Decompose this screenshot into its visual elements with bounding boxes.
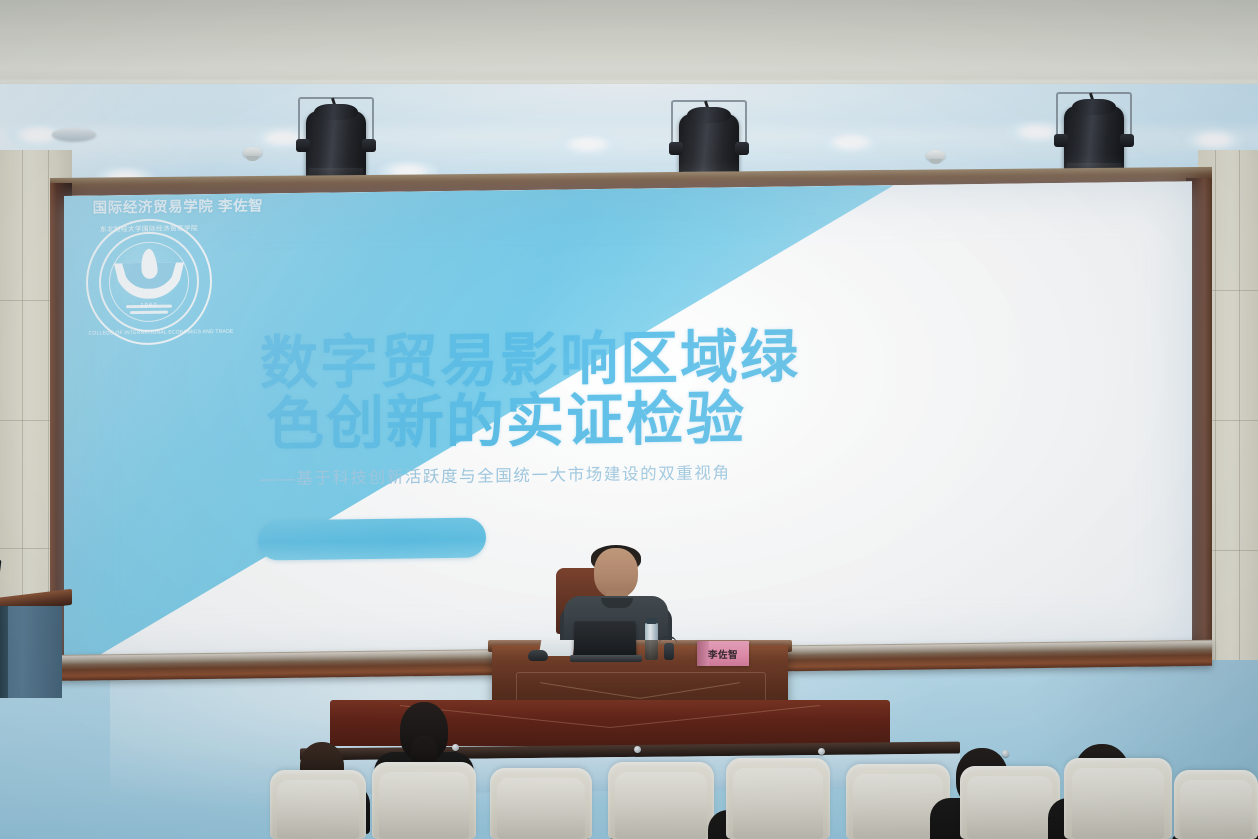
auditorium-seat [1174, 770, 1258, 839]
attendee-9 [0, 0, 1258, 839]
lecture-hall-photo: 东北财经大学国际经济贸易学院 1960 COLLEGE OF INTERNATI… [0, 0, 1258, 839]
